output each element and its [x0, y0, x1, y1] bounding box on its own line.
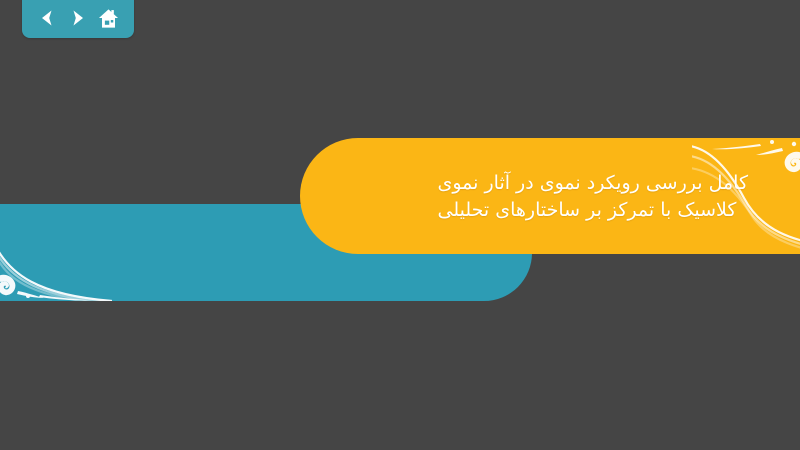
title-line-2: کلاسیک با تمرکز بر ساختارهای تحلیلی — [437, 197, 736, 223]
home-button[interactable] — [97, 6, 121, 30]
slide-title: کامل بررسی رویکرد نموی در آثار نموی کلاس… — [437, 138, 748, 254]
slide-canvas: کامل بررسی رویکرد نموی در آثار نموی کلاس… — [0, 0, 800, 450]
next-slide-button[interactable] — [66, 6, 90, 30]
title-line-1: کامل بررسی رویکرد نموی در آثار نموی — [437, 170, 748, 196]
home-icon — [98, 8, 119, 29]
previous-slide-button[interactable] — [35, 6, 59, 30]
slide-navigation-toolbar — [22, 0, 134, 38]
orange-title-banner: کامل بررسی رویکرد نموی در آثار نموی کلاس… — [300, 138, 800, 254]
arabesque-ornament-teal-icon — [0, 204, 112, 301]
triangle-right-icon — [68, 8, 88, 28]
triangle-left-icon — [37, 8, 57, 28]
